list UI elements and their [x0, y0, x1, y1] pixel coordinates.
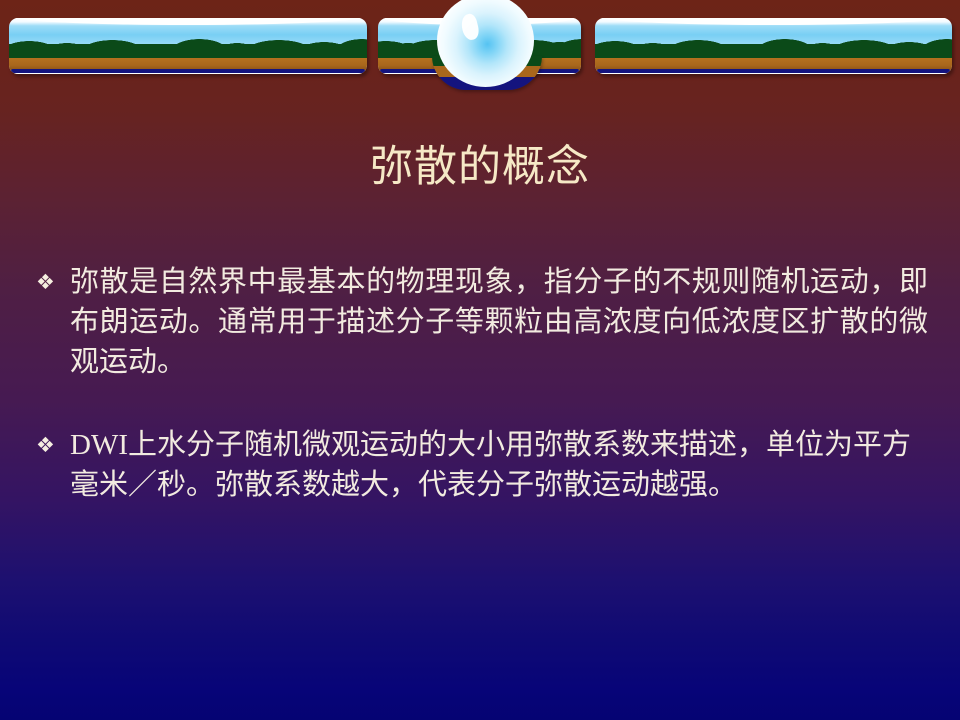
presentation-slide: 弥散的概念 ❖ 弥散是自然界中最基本的物理现象，指分子的不规则随机运动，即布朗运…: [0, 0, 960, 720]
landscape-panel-left: [9, 18, 367, 74]
bullet-item: ❖ 弥散是自然界中最基本的物理现象，指分子的不规则随机运动，即布朗运动。通常用于…: [36, 262, 928, 382]
bullet-text: DWI上水分子随机微观运动的大小用弥散系数来描述，单位为平方毫米／秒。弥散系数越…: [70, 425, 928, 505]
slide-header-decoration: [0, 0, 960, 96]
landscape-panel-right: [595, 18, 952, 74]
bullet-text: 弥散是自然界中最基本的物理现象，指分子的不规则随机运动，即布朗运动。通常用于描述…: [70, 262, 928, 382]
waterline-shape: [11, 69, 365, 73]
slide-body: ❖ 弥散是自然界中最基本的物理现象，指分子的不规则随机运动，即布朗运动。通常用于…: [36, 262, 928, 505]
diamond-bullet-icon: ❖: [36, 425, 70, 465]
waterline-shape: [597, 69, 950, 73]
bullet-item: ❖ DWI上水分子随机微观运动的大小用弥散系数来描述，单位为平方毫米／秒。弥散系…: [36, 425, 928, 505]
slide-title: 弥散的概念: [0, 142, 960, 194]
diamond-bullet-icon: ❖: [36, 262, 70, 302]
